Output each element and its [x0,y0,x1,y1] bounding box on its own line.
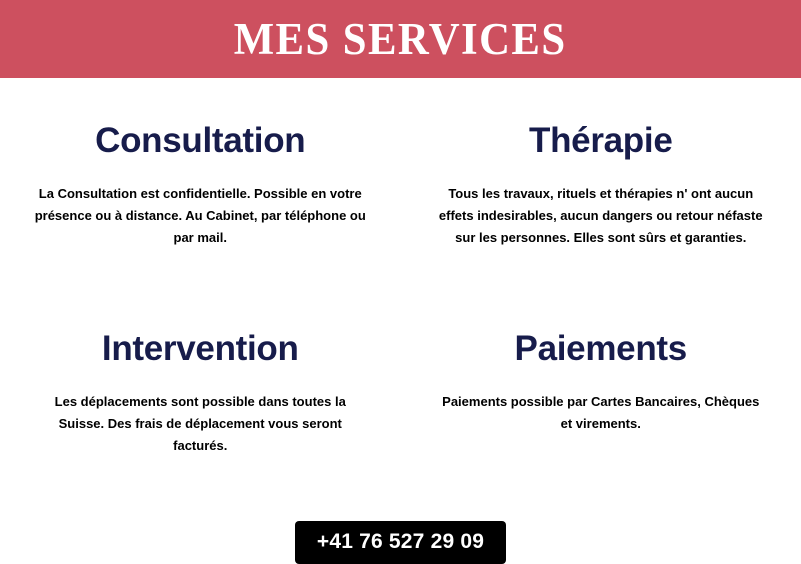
services-grid: Consultation La Consultation est confide… [0,78,801,498]
service-heading-paiements: Paiements [515,330,687,369]
service-card-therapie: Thérapie Tous les travaux, rituels et th… [401,78,801,288]
service-body-consultation: La Consultation est confidentielle. Poss… [34,183,367,249]
service-heading-intervention: Intervention [102,330,299,369]
phone-number-button[interactable]: +41 76 527 29 09 [295,521,506,564]
service-card-intervention: Intervention Les déplacements sont possi… [0,288,401,498]
contact-row: +41 76 527 29 09 [0,498,801,561]
service-heading-consultation: Consultation [95,122,305,161]
service-body-therapie: Tous les travaux, rituels et thérapies n… [437,183,766,249]
service-body-paiements: Paiements possible par Cartes Bancaires,… [437,391,766,435]
service-body-intervention: Les déplacements sont possible dans tout… [34,391,367,457]
service-heading-therapie: Thérapie [529,122,672,161]
service-card-consultation: Consultation La Consultation est confide… [0,78,401,288]
page-header-band: MES SERVICES [0,0,801,78]
page-title: MES SERVICES [234,17,567,62]
service-card-paiements: Paiements Paiements possible par Cartes … [401,288,801,498]
